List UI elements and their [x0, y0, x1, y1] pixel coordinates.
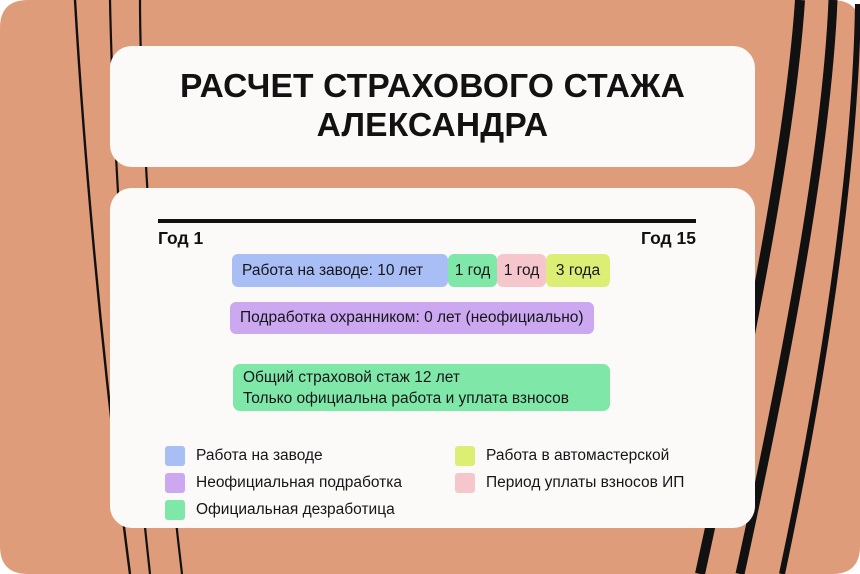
- legend-swatch-icon: [165, 473, 185, 493]
- legend-column-right: Работа в автомастерской Период уплаты вз…: [455, 446, 725, 520]
- legend-item-label: Официальная дезработица: [196, 501, 395, 519]
- timeline-card: Год 1 Год 15 Работа на заводе: 10 лет 1 …: [110, 188, 755, 528]
- work-timeline-row: Работа на заводе: 10 лет 1 год 1 год 3 г…: [232, 254, 610, 287]
- summary-line-total: Общий страховой стаж 12 лет: [243, 368, 600, 389]
- summary-line-note: Только официальна работа и уплата взносо…: [243, 389, 600, 410]
- summary-box: Общий страховой стаж 12 лет Только офици…: [233, 364, 610, 411]
- legend-swatch-icon: [455, 446, 475, 466]
- legend-item-unemployment: Официальная дезработица: [165, 500, 455, 520]
- legend-swatch-icon: [165, 500, 185, 520]
- legend-item-auto-workshop: Работа в автомастерской: [455, 446, 725, 466]
- timeline-axis-rule: [158, 219, 696, 223]
- legend-item-label: Работа на заводе: [196, 447, 323, 465]
- segment-auto-workshop: 3 года: [546, 254, 610, 287]
- axis-start-label: Год 1: [158, 228, 203, 249]
- legend: Работа на заводе Неофициальная подработк…: [165, 446, 725, 520]
- legend-item-unofficial: Неофициальная подработка: [165, 473, 455, 493]
- legend-item-factory: Работа на заводе: [165, 446, 455, 466]
- legend-item-ip-contributions: Период уплаты взносов ИП: [455, 473, 725, 493]
- segment-factory-work: Работа на заводе: 10 лет: [232, 254, 448, 287]
- legend-item-label: Работа в автомастерской: [486, 447, 669, 465]
- legend-swatch-icon: [455, 473, 475, 493]
- legend-item-label: Период уплаты взносов ИП: [486, 474, 684, 492]
- legend-swatch-icon: [165, 446, 185, 466]
- axis-end-label: Год 15: [641, 228, 696, 249]
- legend-item-label: Неофициальная подработка: [196, 474, 402, 492]
- segment-ip-contributions: 1 год: [497, 254, 546, 287]
- timeline-axis-labels: Год 1 Год 15: [158, 228, 696, 249]
- infographic-canvas: РАСЧЕТ СТРАХОВОГО СТАЖА АЛЕКСАНДРА Год 1…: [0, 0, 860, 574]
- segment-unofficial-side-job: Подработка охранником: 0 лет (неофициаль…: [230, 302, 594, 334]
- legend-column-left: Работа на заводе Неофициальная подработк…: [165, 446, 455, 520]
- title-card: РАСЧЕТ СТРАХОВОГО СТАЖА АЛЕКСАНДРА: [110, 46, 755, 167]
- page-title: РАСЧЕТ СТРАХОВОГО СТАЖА АЛЕКСАНДРА: [180, 68, 685, 146]
- segment-official-unemployment: 1 год: [448, 254, 497, 287]
